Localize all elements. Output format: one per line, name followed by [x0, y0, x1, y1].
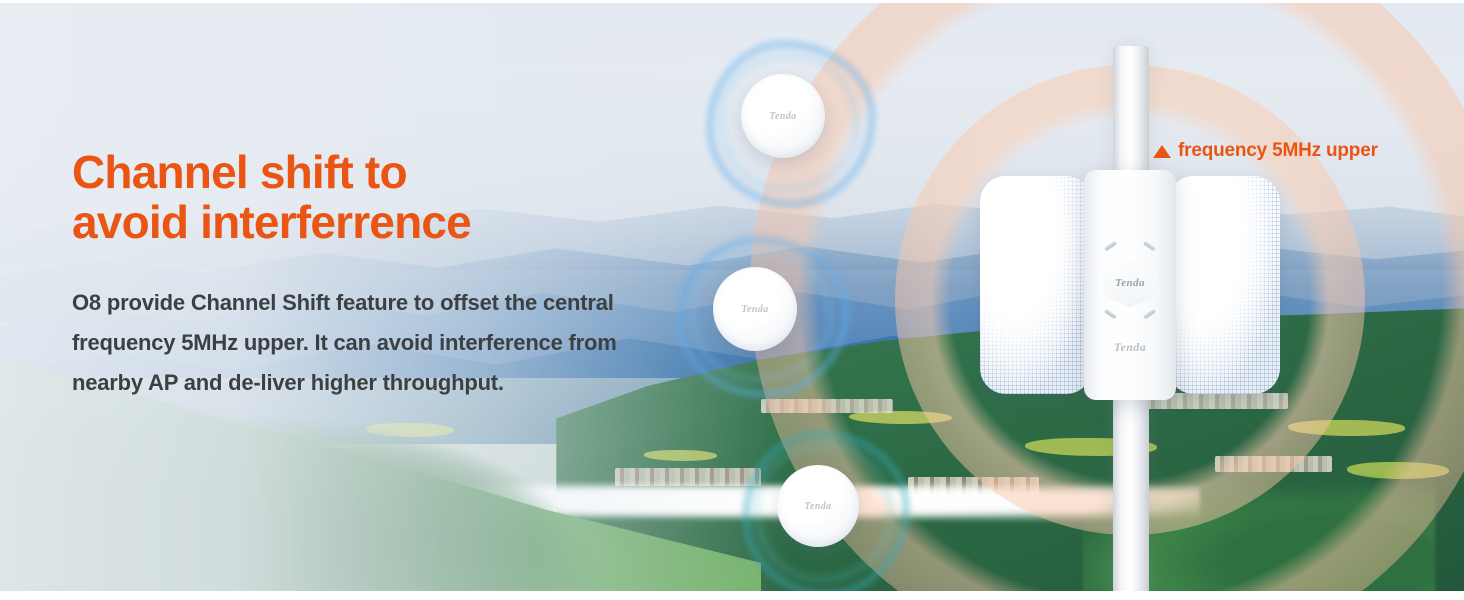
callout-text: frequency 5MHz upper — [1178, 140, 1378, 162]
access-point-top: Tenda — [706, 40, 860, 192]
ap-puck: Tenda — [713, 267, 797, 351]
brand-logo-lower: Tenda — [1114, 340, 1146, 355]
bottom-edge-strip — [0, 591, 1464, 600]
product-feature-banner: Tenda Tenda Tenda Tenda Tenda Channel sh… — [0, 0, 1464, 600]
vent-slot-icon — [1104, 241, 1117, 252]
headline-line-2: avoid interferrence — [72, 198, 672, 248]
wing-gloss-right — [1168, 176, 1280, 394]
body-paragraph: O8 provide Channel Shift feature to offs… — [72, 283, 672, 403]
brand-logo-center: Tenda — [1115, 277, 1145, 289]
brand-logo-ap: Tenda — [769, 111, 796, 122]
triangle-up-icon — [1153, 145, 1171, 158]
vent-slot-icon — [1143, 309, 1156, 320]
cpe-antenna-device: Tenda Tenda — [980, 176, 1280, 394]
device-body: Tenda Tenda — [1084, 170, 1176, 400]
center-hex-badge: Tenda — [1103, 258, 1157, 308]
antenna-wing-left — [980, 176, 1092, 394]
brand-logo-ap: Tenda — [804, 501, 831, 512]
page-title: Channel shift to avoid interferrence — [72, 148, 672, 247]
copy-block: Channel shift to avoid interferrence O8 … — [72, 148, 672, 403]
vent-slot-icon — [1104, 309, 1117, 320]
ap-puck: Tenda — [741, 74, 825, 158]
callout-label: frequency 5MHz upper — [1153, 140, 1378, 162]
vent-slot-icon — [1143, 241, 1156, 252]
wing-gloss-left — [980, 176, 1092, 394]
headline-line-1: Channel shift to — [72, 146, 407, 198]
access-point-bottom: Tenda — [742, 430, 894, 582]
top-edge-strip — [0, 0, 1464, 3]
ap-puck: Tenda — [777, 465, 859, 547]
antenna-wing-right — [1168, 176, 1280, 394]
brand-logo-ap: Tenda — [741, 304, 768, 315]
access-point-middle: Tenda — [676, 236, 834, 382]
